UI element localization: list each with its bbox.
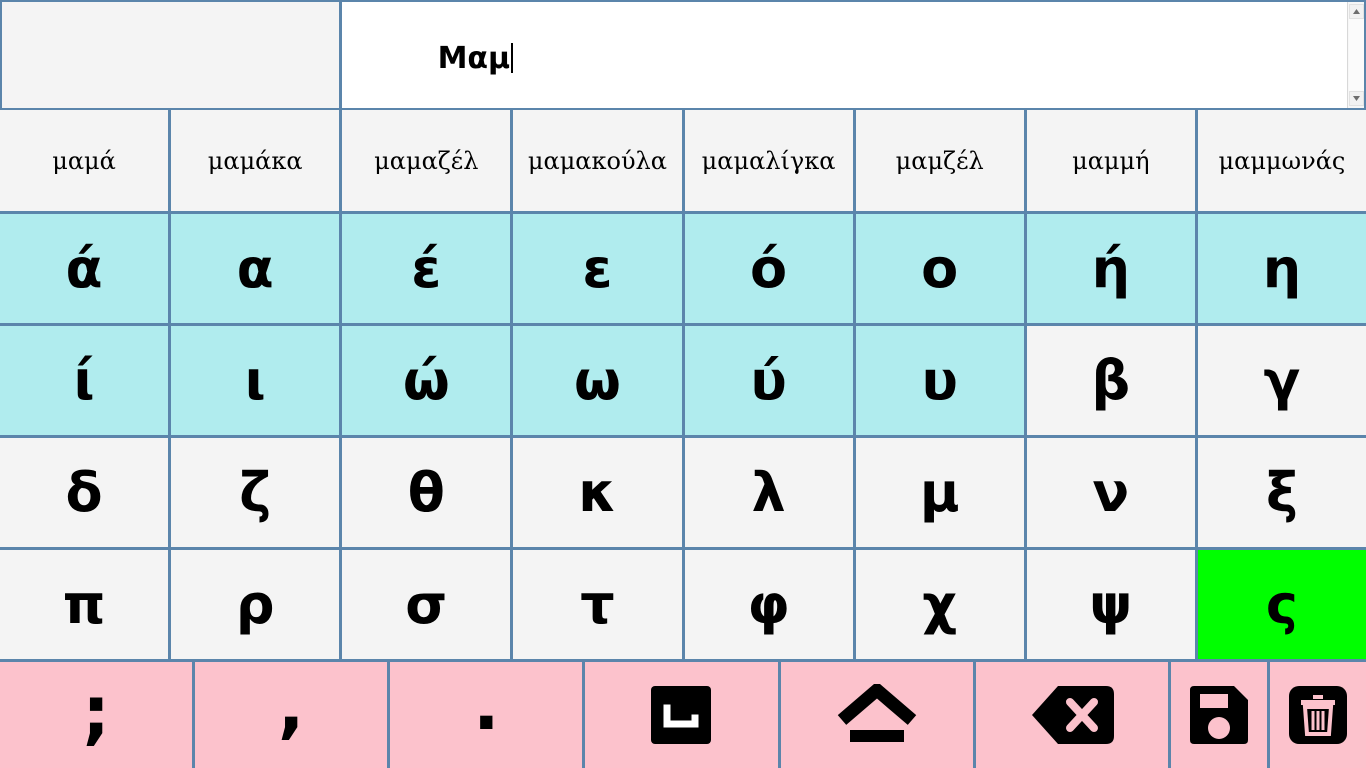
key-row-consonants-1: δ ζ θ κ λ μ ν ξ xyxy=(0,438,1366,547)
key-eta[interactable]: η xyxy=(1198,214,1366,323)
key-upsilon-accent[interactable]: ύ xyxy=(685,326,853,435)
key-eta-accent[interactable]: ή xyxy=(1027,214,1195,323)
key-kappa[interactable]: κ xyxy=(513,438,681,547)
key-row-consonants-2: π ρ σ τ φ χ ψ ς xyxy=(0,550,1366,659)
suggestion-item[interactable]: μαμαλίγκα xyxy=(685,110,853,211)
key-omicron-accent[interactable]: ό xyxy=(685,214,853,323)
text-caret xyxy=(511,43,513,73)
backspace-icon xyxy=(1030,684,1114,746)
key-row-vowels-1: ά α έ ε ό ο ή η xyxy=(0,214,1366,323)
key-epsilon[interactable]: ε xyxy=(513,214,681,323)
key-alpha-accent[interactable]: ά xyxy=(0,214,168,323)
suggestion-item[interactable]: μαμμωνάς xyxy=(1198,110,1366,211)
suggestion-item[interactable]: μαμαζέλ xyxy=(342,110,510,211)
period-key[interactable]: . xyxy=(390,662,582,768)
space-key[interactable] xyxy=(585,662,777,768)
key-iota[interactable]: ι xyxy=(171,326,339,435)
text-input[interactable]: Μαμ xyxy=(342,2,1347,108)
text-scrollbar[interactable] xyxy=(1347,2,1364,108)
trash-icon xyxy=(1287,684,1349,746)
suggestion-item[interactable]: μαμάκα xyxy=(171,110,339,211)
greek-keyboard-app: Μαμ μαμά μαμάκα μα xyxy=(0,0,1366,768)
key-omega-accent[interactable]: ώ xyxy=(342,326,510,435)
key-psi[interactable]: ψ xyxy=(1027,550,1195,659)
key-alpha[interactable]: α xyxy=(171,214,339,323)
key-iota-accent[interactable]: ί xyxy=(0,326,168,435)
key-row-function: ; , . xyxy=(0,662,1366,768)
period-key-label: . xyxy=(473,670,500,740)
key-rho[interactable]: ρ xyxy=(171,550,339,659)
key-row-vowels-2: ί ι ώ ω ύ υ β γ xyxy=(0,326,1366,435)
backspace-key[interactable] xyxy=(976,662,1168,768)
scroll-up-icon[interactable] xyxy=(1349,4,1364,19)
key-upsilon[interactable]: υ xyxy=(856,326,1024,435)
key-tau[interactable]: τ xyxy=(513,550,681,659)
delete-key[interactable] xyxy=(1270,662,1366,768)
key-omega[interactable]: ω xyxy=(513,326,681,435)
key-chi[interactable]: χ xyxy=(856,550,1024,659)
space-icon xyxy=(651,686,711,744)
keyboard: μαμά μαμάκα μαμαζέλ μαμακούλα μαμαλίγκα … xyxy=(0,110,1366,768)
save-floppy-icon xyxy=(1188,684,1250,746)
suggestion-item[interactable]: μαμζέλ xyxy=(856,110,1024,211)
semicolon-key[interactable]: ; xyxy=(0,662,192,768)
key-phi[interactable]: φ xyxy=(685,550,853,659)
shift-icon xyxy=(832,684,922,746)
key-lambda[interactable]: λ xyxy=(685,438,853,547)
key-gamma[interactable]: γ xyxy=(1198,326,1366,435)
shift-key[interactable] xyxy=(781,662,973,768)
save-key[interactable] xyxy=(1171,662,1267,768)
scroll-down-icon[interactable] xyxy=(1349,91,1364,106)
key-nu[interactable]: ν xyxy=(1027,438,1195,547)
text-input-value: Μαμ xyxy=(438,41,511,76)
key-mu[interactable]: μ xyxy=(856,438,1024,547)
suggestion-item[interactable]: μαμά xyxy=(0,110,168,211)
suggestion-item[interactable]: μαμμή xyxy=(1027,110,1195,211)
text-input-wrapper[interactable]: Μαμ xyxy=(341,0,1366,110)
key-zeta[interactable]: ζ xyxy=(171,438,339,547)
comma-key-label: , xyxy=(278,671,305,741)
scrollbar-track[interactable] xyxy=(1349,19,1364,91)
key-beta[interactable]: β xyxy=(1027,326,1195,435)
key-theta[interactable]: θ xyxy=(342,438,510,547)
key-epsilon-accent[interactable]: έ xyxy=(342,214,510,323)
key-sigma[interactable]: σ xyxy=(342,550,510,659)
key-delta[interactable]: δ xyxy=(0,438,168,547)
key-final-sigma[interactable]: ς xyxy=(1198,550,1366,659)
key-pi[interactable]: π xyxy=(0,550,168,659)
semicolon-key-label: ; xyxy=(82,677,110,747)
comma-key[interactable]: , xyxy=(195,662,387,768)
key-xi[interactable]: ξ xyxy=(1198,438,1366,547)
editor-area: Μαμ xyxy=(0,0,1366,110)
suggestion-item[interactable]: μαμακούλα xyxy=(513,110,681,211)
key-omicron[interactable]: ο xyxy=(856,214,1024,323)
side-panel[interactable] xyxy=(0,0,341,110)
suggestion-row: μαμά μαμάκα μαμαζέλ μαμακούλα μαμαλίγκα … xyxy=(0,110,1366,211)
